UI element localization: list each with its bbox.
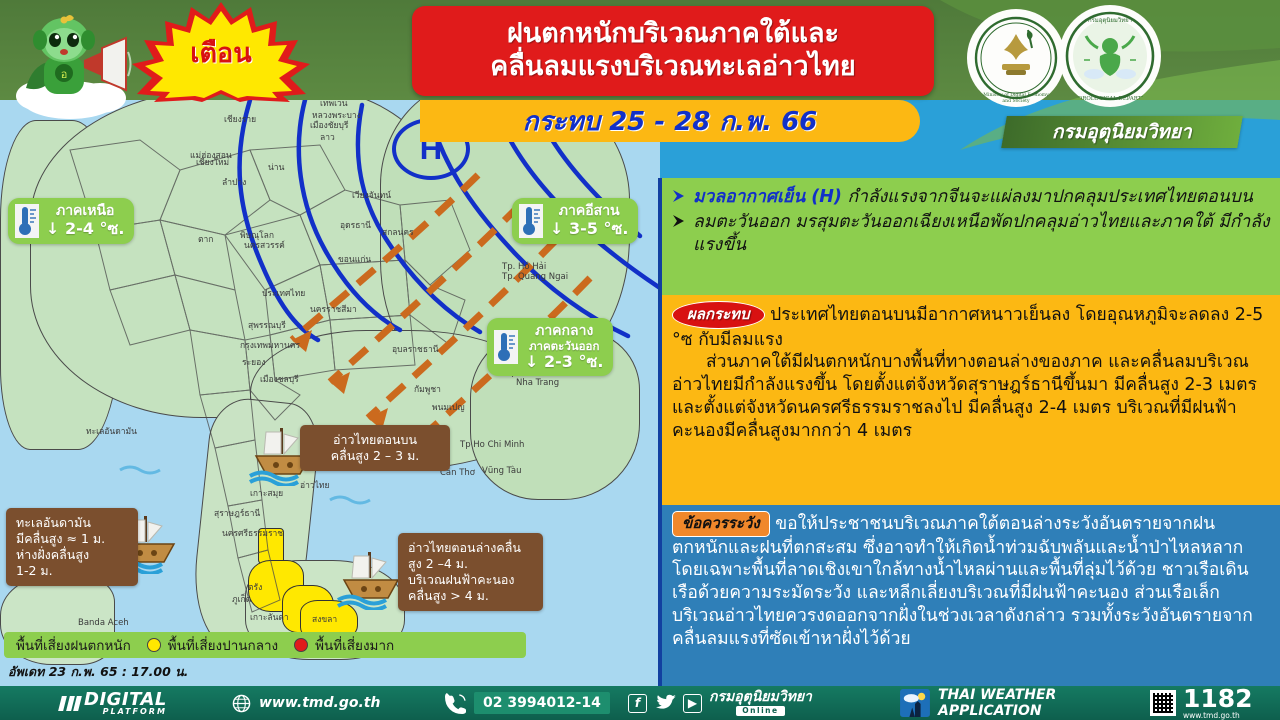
facebook-icon[interactable]: f bbox=[628, 694, 647, 713]
temp-callout-text: ภาคกลาง ภาคตะวันออก ↓ 2-3 °ซ. bbox=[525, 324, 603, 370]
sea-callout-line: ห่างฝั่งคลื่นสูง bbox=[16, 547, 128, 563]
impact-tag: ผลกระทบ bbox=[672, 301, 765, 329]
mascot-robot-icon: อ bbox=[4, 4, 132, 122]
temp-value: ↓ 2-3 °ซ. bbox=[525, 353, 603, 371]
map-label: Vũng Tàu bbox=[482, 466, 521, 476]
ministry-digital-economy-seal-icon: Ministry of Digital Economy and Society bbox=[966, 8, 1066, 108]
qr-code-icon[interactable] bbox=[1150, 690, 1176, 716]
phone-icon bbox=[445, 693, 466, 714]
map-label: กรุงเทพมหานคร bbox=[240, 338, 300, 352]
phone-number: 02 3994012-14 bbox=[474, 692, 610, 714]
sea-callout-line: คลื่นสูง > 4 ม. bbox=[408, 588, 533, 604]
sea-callout-line: อ่าวไทยตอนบน bbox=[310, 432, 440, 448]
footer-social: f ▶ กรมอุตุนิยมวิทยา Online bbox=[628, 686, 812, 720]
panel-precaution: ข้อควรระวัง ขอให้ประชาชนบริเวณภาคใต้ตอนล… bbox=[662, 505, 1280, 686]
sea-callout-line: ทะเลอันดามัน bbox=[16, 515, 128, 531]
digital-platform-text: DIGITAL PLATFORM bbox=[84, 691, 167, 716]
map-label: นครศรีธรรมราช bbox=[222, 526, 283, 540]
map-label: พนมเปญ bbox=[432, 400, 465, 414]
map-label: ระยอง bbox=[242, 355, 265, 369]
arrow-right-icon bbox=[672, 214, 686, 228]
svg-text:อ: อ bbox=[61, 68, 68, 81]
youtube-icon[interactable]: ▶ bbox=[683, 694, 702, 713]
footer-phone[interactable]: 02 3994012-14 bbox=[445, 686, 610, 720]
situation-bullet-text: ลมตะวันออก มรสุมตะวันออกเฉียงเหนือพัดปกค… bbox=[693, 211, 1270, 257]
map-label: Nha Trang bbox=[516, 378, 559, 388]
sea-callout-lower-gulf: อ่าวไทยตอนล่างคลื่น สูง 2 –4 ม. บริเวณฝน… bbox=[398, 533, 543, 611]
update-timestamp: อัพเดท 23 ก.พ. 65 : 17.00 น. bbox=[8, 662, 188, 682]
map-label: สุพรรณบุรี bbox=[248, 318, 286, 332]
legend-label: พื้นที่เสี่ยงมาก bbox=[315, 634, 394, 656]
map-label: สกลนคร bbox=[382, 225, 414, 239]
down-arrow-icon: ↓ bbox=[550, 219, 563, 238]
legend-swatch-red bbox=[294, 638, 308, 652]
arrow-right-icon bbox=[672, 189, 686, 203]
seal2-caption-th: กรมอุตุนิยมวิทยา bbox=[1088, 17, 1132, 24]
map-label: เกาะลันตา bbox=[250, 610, 289, 624]
temp-value-text: 3-5 °ซ. bbox=[569, 219, 628, 238]
map-label: ขอนแก่น bbox=[338, 252, 371, 266]
app-line-1: THAI WEATHER bbox=[938, 687, 1056, 703]
footer-hotline: 1182 www.tmd.go.th bbox=[1150, 686, 1253, 720]
hotline-block: 1182 www.tmd.go.th bbox=[1183, 686, 1253, 720]
situation-bullet: มวลอากาศเย็น (H) กำลังแรงจากจีนจะแผ่ลงมา… bbox=[672, 186, 1270, 209]
map-label: ลำปาง bbox=[222, 175, 246, 189]
digital-bars-icon bbox=[60, 696, 80, 711]
map-label: ภูเก็ต bbox=[232, 592, 251, 606]
department-banner-text: กรมอุตุนิยมวิทยา bbox=[1052, 117, 1192, 147]
temp-callout-central: ภาคกลาง ภาคตะวันออก ↓ 2-3 °ซ. bbox=[487, 318, 613, 376]
temp-value: ↓ 3-5 °ซ. bbox=[550, 220, 628, 238]
map-label: Tp. Quang Ngai bbox=[502, 272, 568, 282]
map-label: เวียงจันทน์ bbox=[352, 188, 391, 202]
map-label: Banda Aceh bbox=[78, 618, 129, 628]
legend-item-moderate: พื้นที่เสี่ยงปานกลาง bbox=[147, 634, 278, 656]
sea-callout-line: บริเวณฝนฟ้าคะนอง bbox=[408, 572, 533, 588]
sea-callout-line: อ่าวไทยตอนล่างคลื่น bbox=[408, 540, 533, 556]
website-url: www.tmd.go.th bbox=[259, 695, 380, 711]
temp-region-label: ภาคเหนือ bbox=[46, 204, 124, 220]
temp-callout-northeast: ภาคอีสาน ↓ 3-5 °ซ. bbox=[512, 198, 638, 244]
down-arrow-icon: ↓ bbox=[525, 352, 538, 371]
seal1-caption: Ministry of Digital Economy bbox=[983, 92, 1049, 98]
legend-title-text: พื้นที่เสี่ยงฝนตกหนัก bbox=[16, 634, 131, 656]
impact-paragraph-2: ส่วนภาคใต้มีฝนตกหนักบางพื้นที่ทางตอนล่าง… bbox=[672, 351, 1270, 442]
map-label: เชียงใหม่ bbox=[196, 155, 229, 169]
situation-bullet-text: มวลอากาศเย็น (H) กำลังแรงจากจีนจะแผ่ลงมา… bbox=[693, 186, 1253, 209]
footer-app[interactable]: THAI WEATHER APPLICATION bbox=[900, 686, 1056, 720]
legend-label: พื้นที่เสี่ยงปานกลาง bbox=[168, 634, 278, 656]
map-label: ตาก bbox=[198, 232, 213, 246]
map-label: เมืองชลบุรี bbox=[260, 372, 299, 386]
panel-impact: ผลกระทบ ประเทศไทยตอนบนมีอากาศหนาวเย็นลง … bbox=[662, 295, 1280, 505]
digital-platform-logo: DIGITAL PLATFORM bbox=[60, 686, 167, 720]
legend-title: พื้นที่เสี่ยงฝนตกหนัก bbox=[16, 634, 131, 656]
impact-date-band: กระทบ 25 - 28 ก.พ. 66 bbox=[420, 100, 920, 142]
map-label: อุบลราชธานี bbox=[392, 342, 439, 356]
temp-value-text: 2-3 °ซ. bbox=[544, 352, 603, 371]
impact-date-text: กระทบ 25 - 28 ก.พ. 66 bbox=[523, 101, 818, 142]
main-title-card: ฝนตกหนักบริเวณภาคใต้และ คลื่นลมแรงบริเวณ… bbox=[412, 6, 934, 96]
sea-callout-line: 1-2 ม. bbox=[16, 563, 128, 579]
infographic-root: ลาวเชียงรายหลวงพระบางเมืองชัยบุรีน่านแม่… bbox=[0, 0, 1280, 720]
footer-website[interactable]: www.tmd.go.th bbox=[232, 686, 380, 720]
map-label: ประเทศไทย bbox=[262, 286, 305, 300]
title-line-2: คลื่นลมแรงบริเวณทะเลอ่าวไทย bbox=[490, 51, 855, 84]
bullet-rest: กำลังแรงจากจีนจะแผ่ลงมาปกคลุมประเทศไทยตอ… bbox=[842, 187, 1253, 207]
map-label: สงขลา bbox=[312, 612, 337, 626]
map-label: นครราชสีมา bbox=[310, 302, 357, 316]
map-label: สุราษฎร์ธานี bbox=[214, 506, 260, 520]
sea-callout-line: มีคลื่นสูง ≈ 1 ม. bbox=[16, 531, 128, 547]
legend-swatch-yellow bbox=[147, 638, 161, 652]
thermometer-icon bbox=[494, 330, 518, 364]
legend-item-high: พื้นที่เสี่ยงมาก bbox=[294, 634, 394, 656]
panel-situation: มวลอากาศเย็น (H) กำลังแรงจากจีนจะแผ่ลงมา… bbox=[662, 178, 1280, 295]
digital-main-text: DIGITAL bbox=[84, 691, 167, 708]
sea-callout-line: สูง 2 –4 ม. bbox=[408, 556, 533, 572]
app-name: THAI WEATHER APPLICATION bbox=[938, 687, 1056, 719]
map-label: ทะเลอันดามัน bbox=[86, 424, 137, 438]
warning-badge-label: เตือน bbox=[132, 2, 310, 102]
map-label: น่าน bbox=[268, 160, 284, 174]
title-line-1: ฝนตกหนักบริเวณภาคใต้และ bbox=[507, 18, 839, 51]
temp-callout-north: ภาคเหนือ ↓ 2-4 °ซ. bbox=[8, 198, 134, 244]
sea-callout-andaman: ทะเลอันดามัน มีคลื่นสูง ≈ 1 ม. ห่างฝั่งค… bbox=[6, 508, 138, 586]
svg-text:and Society: and Society bbox=[1002, 98, 1030, 104]
footer-bar: DIGITAL PLATFORM www.tmd.go.th 02 399401… bbox=[0, 686, 1280, 720]
map-label: เกาะสมุย bbox=[250, 486, 283, 500]
sea-callout-upper-gulf: อ่าวไทยตอนบน คลื่นสูง 2 – 3 ม. bbox=[300, 425, 450, 471]
temp-region-label: ภาคอีสาน bbox=[550, 204, 628, 220]
tmd-online-label: กรมอุตุนิยมวิทยา Online bbox=[709, 690, 812, 716]
impact-paragraph-1: ผลกระทบ ประเทศไทยตอนบนมีอากาศหนาวเย็นลง … bbox=[672, 301, 1270, 351]
map-legend: พื้นที่เสี่ยงฝนตกหนัก พื้นที่เสี่ยงปานกล… bbox=[4, 632, 526, 658]
thai-weather-app-icon bbox=[900, 689, 930, 717]
down-arrow-icon: ↓ bbox=[46, 219, 59, 238]
precaution-tag: ข้อควรระวัง bbox=[672, 511, 770, 537]
bullet-highlight: มวลอากาศเย็น (H) bbox=[693, 187, 842, 207]
app-line-2: APPLICATION bbox=[938, 703, 1056, 719]
meteorological-department-seal-icon: กรมอุตุนิยมวิทยา METEOROLOGICAL DEPARTME… bbox=[1058, 4, 1162, 108]
map-label: Tp. Hồ Hải bbox=[502, 262, 546, 272]
thermometer-icon bbox=[519, 204, 543, 238]
temp-value: ↓ 2-4 °ซ. bbox=[46, 220, 124, 238]
map-label: Tp Ho Chi Minh bbox=[460, 440, 524, 450]
map-label: อุดรธานี bbox=[340, 218, 371, 232]
temp-callout-text: ภาคอีสาน ↓ 3-5 °ซ. bbox=[550, 204, 628, 238]
department-banner: กรมอุตุนิยมวิทยา bbox=[1001, 116, 1243, 148]
twitter-icon[interactable] bbox=[654, 694, 676, 713]
online-sub-text: Online bbox=[736, 706, 784, 716]
precaution-paragraph: ข้อควรระวัง ขอให้ประชาชนบริเวณภาคใต้ตอนล… bbox=[672, 511, 1270, 650]
map-label: กัมพูชา bbox=[414, 382, 441, 396]
situation-bullet: ลมตะวันออก มรสุมตะวันออกเฉียงเหนือพัดปกค… bbox=[672, 211, 1270, 257]
hotline-number: 1182 bbox=[1183, 686, 1253, 711]
temp-value-text: 2-4 °ซ. bbox=[65, 219, 124, 238]
temp-callout-text: ภาคเหนือ ↓ 2-4 °ซ. bbox=[46, 204, 124, 238]
globe-icon bbox=[232, 694, 251, 713]
map-label: นครสวรรค์ bbox=[244, 238, 285, 252]
online-main-text: กรมอุตุนิยมวิทยา bbox=[709, 690, 812, 704]
temp-region-label: ภาคกลาง bbox=[525, 324, 603, 340]
thermometer-icon bbox=[15, 204, 39, 238]
sea-callout-line: คลื่นสูง 2 – 3 ม. bbox=[310, 448, 440, 464]
